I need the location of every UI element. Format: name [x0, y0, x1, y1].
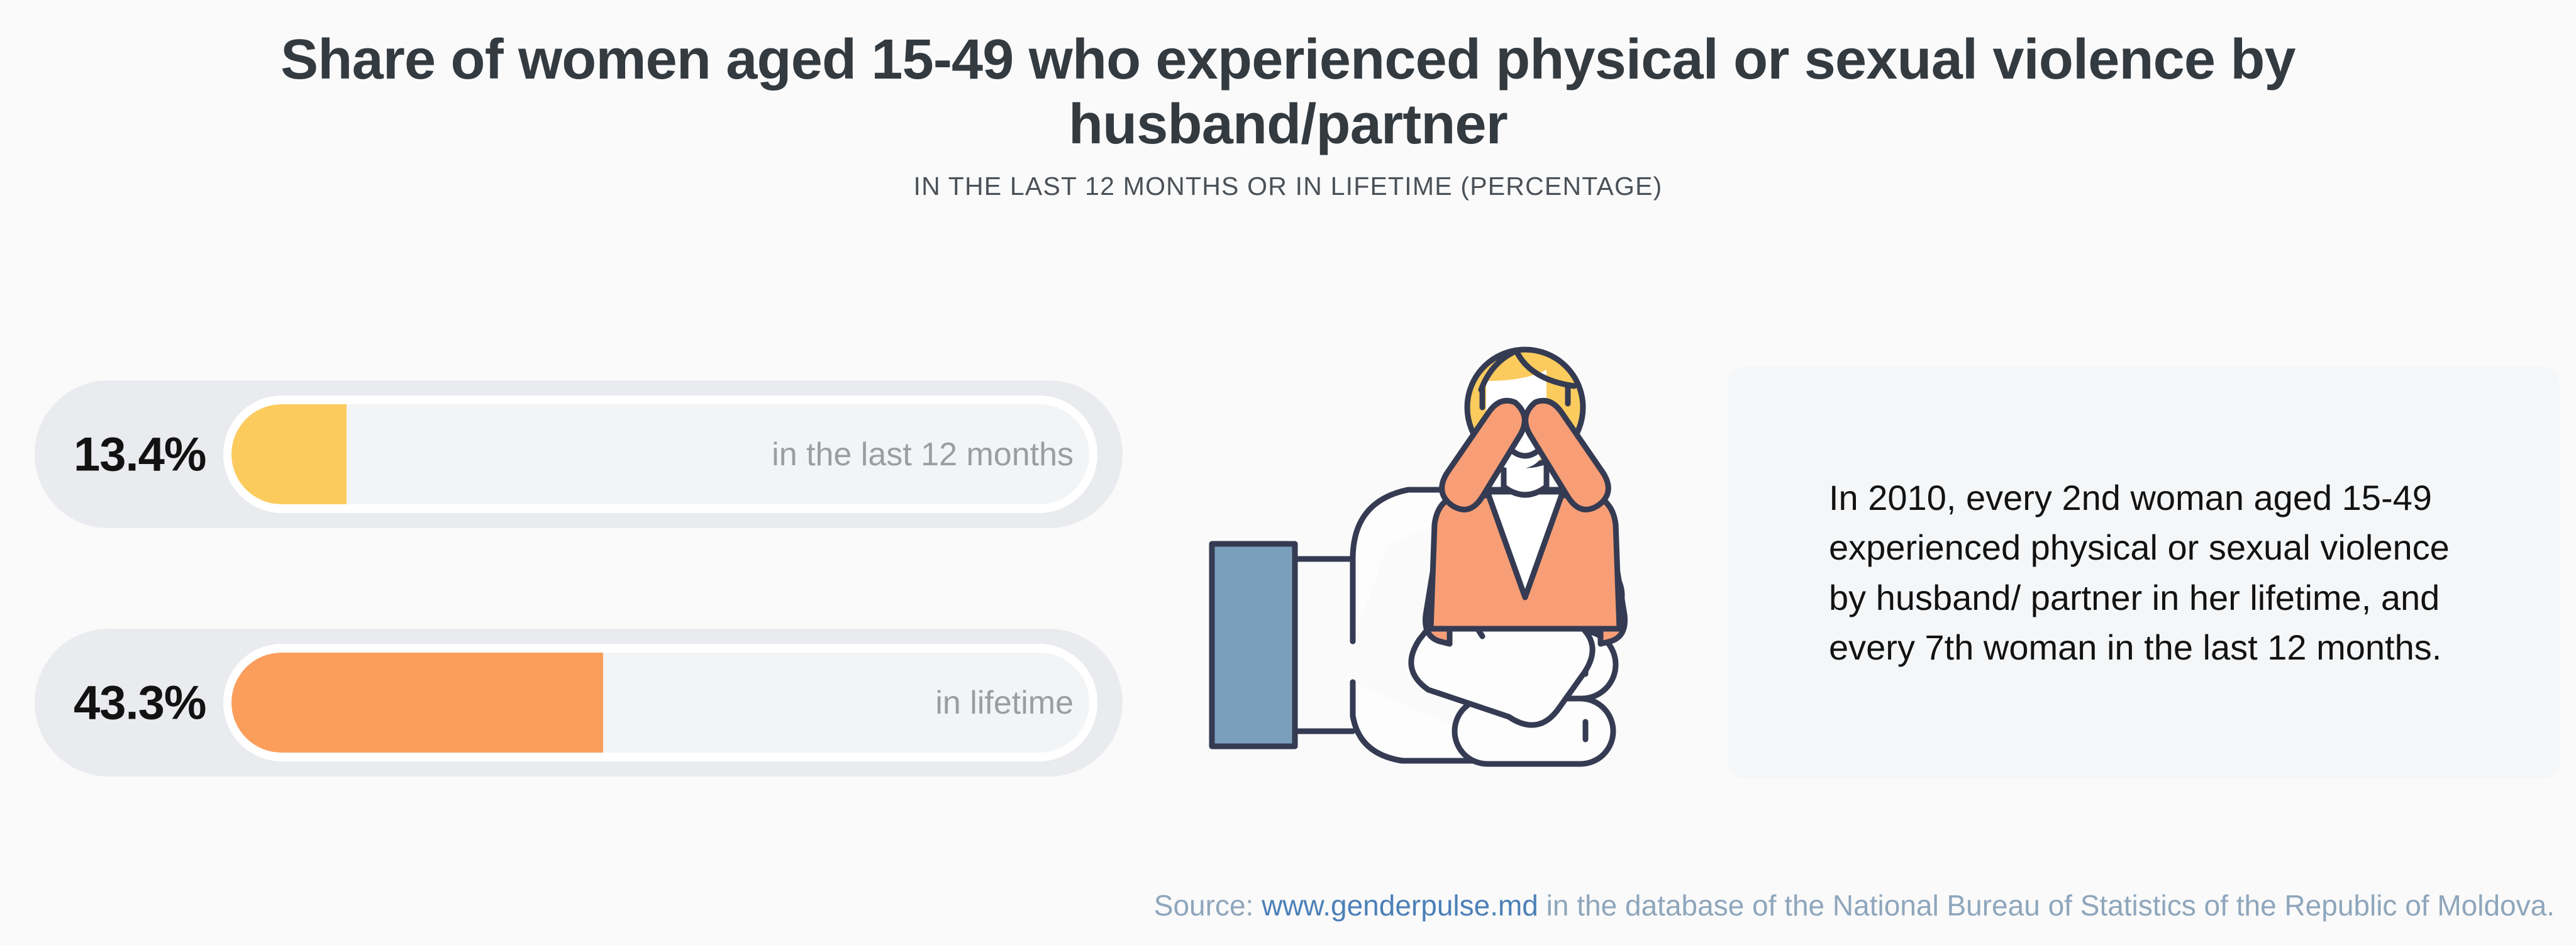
source-line: Source: www.genderpulse.md in the databa…: [1154, 888, 2555, 922]
infographic-root: Share of women aged 15-49 who experience…: [0, 0, 2576, 945]
source-link[interactable]: www.genderpulse.md: [1262, 889, 1538, 922]
sleeve-shape: [1212, 544, 1295, 746]
insight-text: In 2010, every 2nd woman aged 15-49 expe…: [1829, 472, 2470, 672]
bar-fill: [231, 653, 603, 753]
header: Share of women aged 15-49 who experience…: [0, 28, 2576, 201]
insight-panel: In 2010, every 2nd woman aged 15-49 expe…: [1728, 367, 2560, 778]
bar-row-last-12-months: 13.4% in the last 12 months: [35, 380, 1123, 528]
bar-row-lifetime: 43.3% in lifetime: [35, 629, 1123, 776]
page-subtitle: IN THE LAST 12 MONTHS OR IN LIFETIME (PE…: [0, 172, 2576, 201]
bar-fill: [231, 404, 347, 504]
bar-track-ring: in lifetime: [223, 644, 1097, 761]
fist-gripping-woman-illustration: [1198, 327, 1695, 780]
bar-track-ring: in the last 12 months: [223, 395, 1097, 513]
page-title: Share of women aged 15-49 who experience…: [125, 28, 2451, 157]
woman-figure: [1425, 350, 1624, 644]
source-suffix: in the database of the National Bureau o…: [1538, 889, 2555, 922]
bar-chart: 13.4% in the last 12 months 43.3% in lif…: [35, 380, 1129, 776]
bar-category-label: in the last 12 months: [772, 436, 1074, 473]
source-prefix: Source:: [1154, 889, 1262, 922]
bar-percentage-label: 43.3%: [74, 675, 225, 730]
bar-category-label: in lifetime: [935, 684, 1074, 722]
bar-percentage-label: 13.4%: [74, 427, 225, 482]
